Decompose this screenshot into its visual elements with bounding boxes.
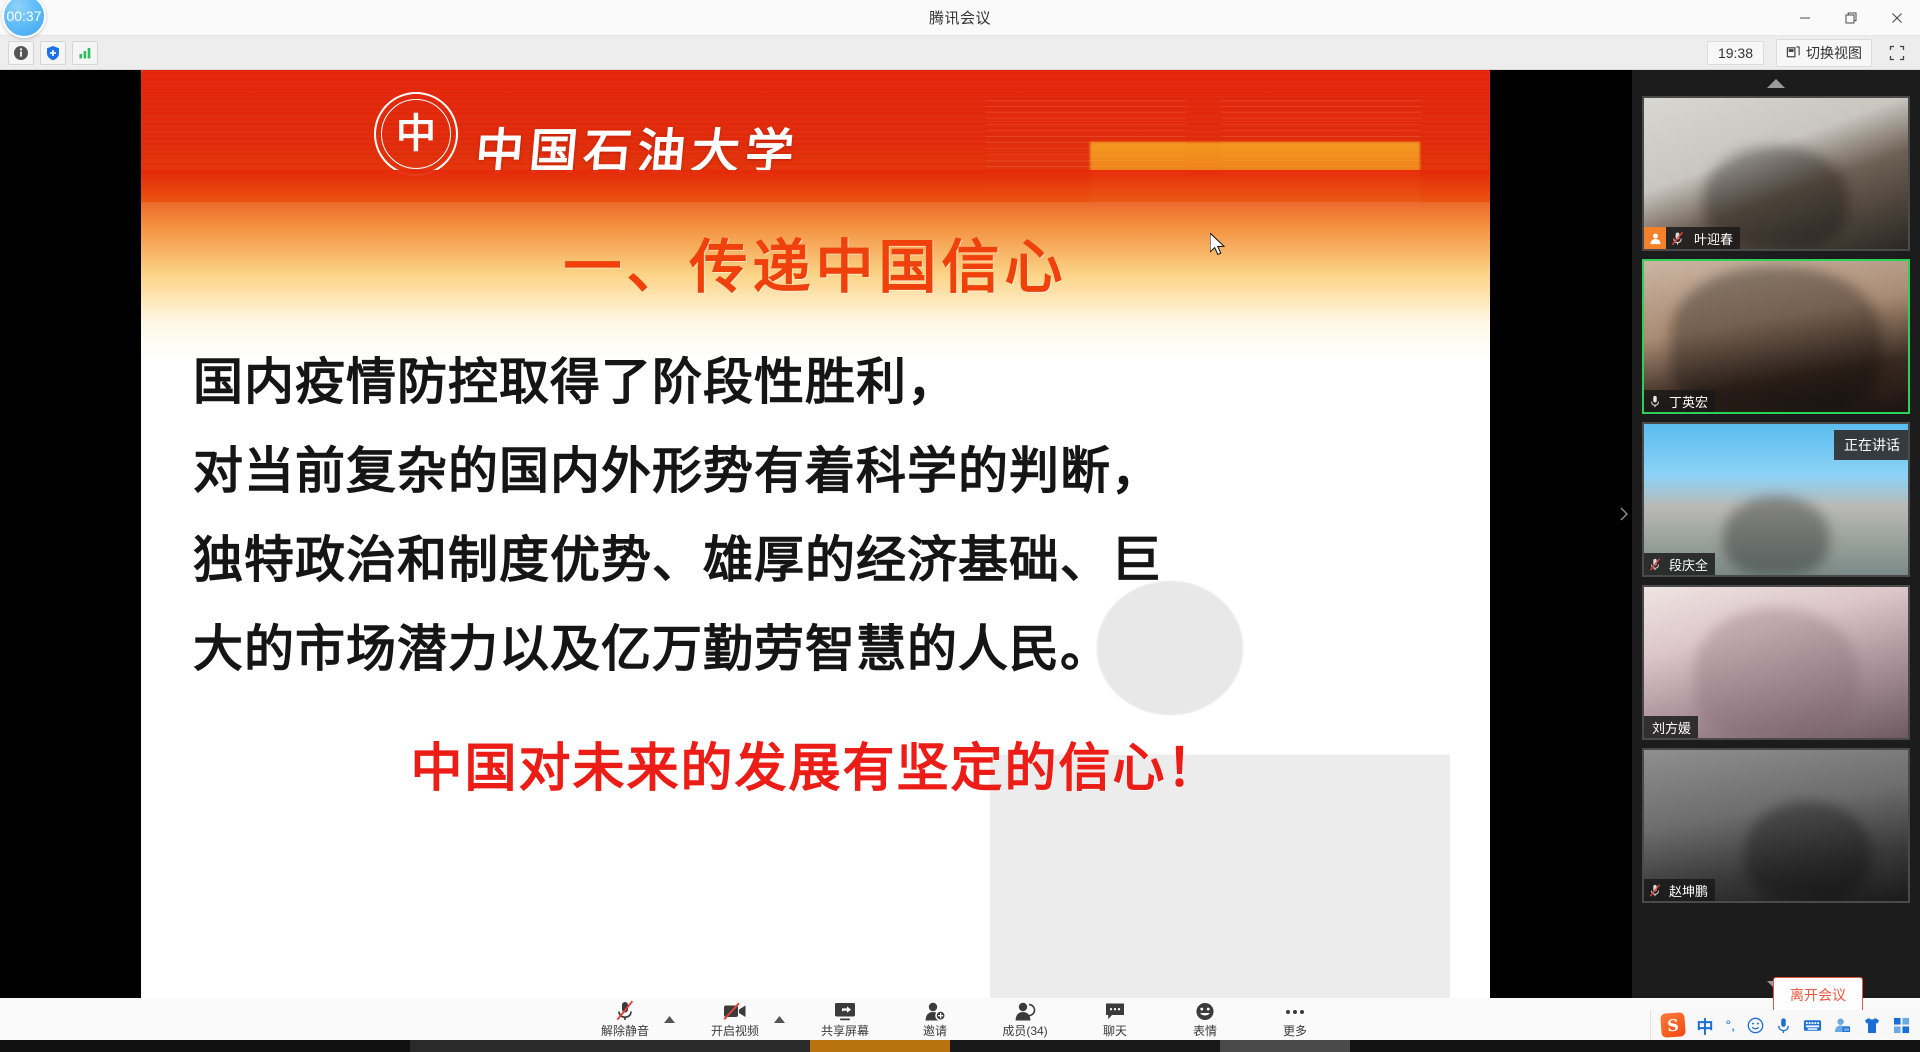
host-person-icon — [1649, 232, 1662, 245]
participant-tile[interactable]: 正在讲话 段庆全 — [1642, 422, 1910, 577]
slide-line: 国内疫情防控取得了阶段性胜利， — [193, 338, 1438, 427]
chat-bubble-icon — [1105, 1000, 1125, 1021]
collapse-panel-button[interactable] — [1618, 505, 1630, 528]
security-button[interactable] — [40, 41, 66, 65]
window-controls — [1782, 0, 1920, 36]
microphone-muted-icon — [1649, 883, 1661, 898]
clock: 19:38 — [1707, 41, 1764, 65]
triangle-up-icon — [1766, 78, 1786, 89]
participant-name: 刘方媛 — [1644, 718, 1691, 737]
slide-line: 大的市场潜力以及亿万勤劳智慧的人民。 — [193, 605, 1438, 694]
ime-user-icon[interactable]: 18 — [1834, 1017, 1851, 1033]
share-screen-button[interactable]: 共享屏幕 — [814, 1000, 876, 1039]
participant-name: 段庆全 — [1664, 555, 1708, 574]
filmstrip-scroll-up[interactable] — [1632, 70, 1920, 96]
ime-emoji-icon[interactable] — [1747, 1017, 1764, 1034]
switch-view-label: 切换视图 — [1806, 43, 1862, 63]
chat-label: 聊天 — [1103, 1022, 1127, 1039]
mic-status — [1644, 879, 1661, 901]
meeting-controlbar: 解除静音 开启视频 共享屏幕 — [0, 998, 1920, 1040]
maximize-icon — [1845, 12, 1857, 24]
window-title: 腾讯会议 — [929, 7, 991, 28]
video-subject — [1694, 608, 1858, 738]
video-subject — [1744, 801, 1871, 901]
ime-toolbox-icon[interactable] — [1893, 1017, 1910, 1034]
slide-conclusion: 中国对未来的发展有坚定的信心！ — [193, 726, 1438, 801]
shared-screen-stage: 中 中国石油大学 一、传递中国信心 国内疫情防控取得了阶段性胜利， 对当前复杂的… — [0, 70, 1632, 998]
microphone-muted-icon — [615, 1000, 635, 1021]
mic-status — [1644, 553, 1661, 575]
participant-nameplate: 叶迎春 — [1644, 227, 1740, 249]
audio-options-caret[interactable] — [662, 998, 676, 1040]
participant-nameplate: 赵坤鹏 — [1644, 879, 1715, 901]
camera-off-icon — [723, 1000, 747, 1021]
participant-tile[interactable]: 丁英宏 — [1642, 259, 1910, 414]
microphone-muted-icon — [1671, 231, 1684, 246]
participants-button[interactable]: 成员(34) — [994, 1000, 1056, 1039]
microphone-muted-icon — [1649, 557, 1661, 572]
ime-tray: S 中 °, 18 — [1650, 1010, 1920, 1040]
host-badge — [1644, 227, 1666, 249]
status-strip: 19:38 切换视图 — [0, 36, 1920, 70]
taskbar-segment — [1350, 1040, 1920, 1052]
windows-taskbar — [0, 1040, 1920, 1052]
video-toggle-button[interactable]: 开启视频 — [704, 1000, 766, 1039]
participants-label: 成员(34) — [1002, 1022, 1047, 1039]
participant-filmstrip: 叶迎春 丁英宏 正在讲话 — [1632, 70, 1920, 998]
switch-view-icon — [1786, 45, 1801, 60]
ime-skin-icon[interactable] — [1863, 1017, 1881, 1034]
leave-meeting-button[interactable]: 离开会议 — [1773, 977, 1863, 1013]
chevron-right-icon — [1618, 505, 1630, 523]
minimize-icon — [1799, 12, 1811, 24]
mute-toggle-button[interactable]: 解除静音 — [594, 1000, 656, 1039]
ime-punctuation-icon[interactable]: °, — [1726, 1017, 1736, 1033]
video-options-caret[interactable] — [772, 998, 786, 1040]
video-subject — [1723, 496, 1829, 575]
ime-chinese-mode-icon[interactable]: 中 — [1697, 1013, 1714, 1038]
logo-inner-ring — [381, 99, 451, 169]
maximize-button[interactable] — [1828, 0, 1874, 36]
mic-status — [1669, 227, 1686, 249]
participant-nameplate: 刘方媛 — [1644, 716, 1698, 738]
taskbar-segment — [410, 1040, 810, 1052]
invite-label: 邀请 — [923, 1022, 947, 1039]
taskbar-segment — [1220, 1040, 1350, 1052]
window-titlebar: 腾讯会议 — [0, 0, 1920, 36]
slide-line: 独特政治和制度优势、雄厚的经济基础、巨 — [193, 516, 1438, 605]
slide-title: 一、传递中国信心 — [193, 220, 1438, 304]
mute-toggle-label: 解除静音 — [601, 1022, 649, 1039]
more-label: 更多 — [1283, 1022, 1307, 1039]
close-icon — [1891, 12, 1903, 24]
sogou-logo-icon[interactable]: S — [1660, 1012, 1686, 1038]
network-quality-button[interactable] — [72, 41, 98, 65]
invite-person-icon — [925, 1000, 946, 1021]
shield-icon — [45, 45, 61, 61]
chat-button[interactable]: 聊天 — [1084, 1000, 1146, 1039]
status-strip-left — [0, 41, 98, 65]
participant-nameplate: 丁英宏 — [1644, 390, 1715, 412]
more-dots-icon — [1284, 1000, 1306, 1021]
participant-tile[interactable]: 叶迎春 — [1642, 96, 1910, 251]
participant-name: 叶迎春 — [1689, 229, 1733, 248]
participant-name: 丁英宏 — [1664, 392, 1708, 411]
emoji-label: 表情 — [1193, 1022, 1217, 1039]
video-toggle-label: 开启视频 — [711, 1022, 759, 1039]
slide-body: 一、传递中国信心 国内疫情防控取得了阶段性胜利， 对当前复杂的国内外形势有着科学… — [141, 220, 1490, 801]
invite-button[interactable]: 邀请 — [904, 1000, 966, 1039]
participant-tile[interactable]: 刘方媛 — [1642, 585, 1910, 740]
fullscreen-icon — [1889, 45, 1905, 61]
participants-icon — [1014, 1000, 1036, 1021]
participant-tiles: 叶迎春 丁英宏 正在讲话 — [1632, 96, 1920, 972]
info-icon — [13, 45, 29, 61]
close-button[interactable] — [1874, 0, 1920, 36]
ime-voice-input-icon[interactable] — [1776, 1017, 1791, 1034]
signal-bars-icon — [77, 45, 93, 61]
emoji-smile-icon — [1195, 1000, 1215, 1021]
meeting-timer-value: 00:37 — [6, 8, 41, 24]
taskbar-segment — [950, 1040, 1220, 1052]
taskbar-segment-active — [810, 1040, 950, 1052]
slide-line: 对当前复杂的国内外形势有着科学的判断， — [193, 427, 1438, 516]
participant-name: 赵坤鹏 — [1664, 881, 1708, 900]
minimize-button[interactable] — [1782, 0, 1828, 36]
taskbar-segment — [0, 1040, 410, 1052]
switch-view-button[interactable]: 切换视图 — [1776, 39, 1872, 67]
info-button[interactable] — [8, 41, 34, 65]
participant-tile[interactable]: 赵坤鹏 — [1642, 748, 1910, 903]
status-strip-right: 19:38 切换视图 — [1707, 39, 1920, 67]
caret-up-icon — [664, 1016, 675, 1023]
caret-up-icon — [774, 1016, 785, 1023]
participant-nameplate: 段庆全 — [1644, 553, 1715, 575]
ime-keyboard-icon[interactable] — [1803, 1018, 1822, 1033]
emoji-button[interactable]: 表情 — [1174, 1000, 1236, 1039]
presentation-slide: 中 中国石油大学 一、传递中国信心 国内疫情防控取得了阶段性胜利， 对当前复杂的… — [141, 70, 1490, 998]
speaking-indicator: 正在讲话 — [1834, 430, 1908, 460]
university-logo: 中 — [374, 92, 458, 176]
svg-text:18: 18 — [1844, 1027, 1850, 1032]
fullscreen-button[interactable] — [1884, 42, 1910, 64]
more-button[interactable]: 更多 — [1264, 1000, 1326, 1039]
microphone-icon — [1649, 394, 1661, 409]
mic-status — [1644, 390, 1661, 412]
share-screen-label: 共享屏幕 — [821, 1022, 869, 1039]
share-screen-icon — [834, 1000, 856, 1021]
